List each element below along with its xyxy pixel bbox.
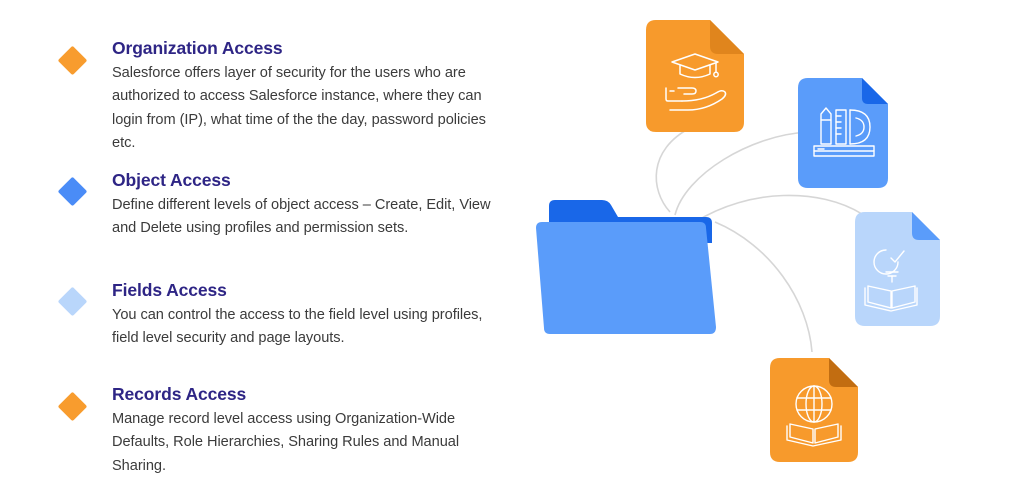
document-card-body [646, 20, 744, 132]
document-card-graduation [646, 20, 744, 132]
folder-icon [536, 200, 716, 334]
diamond-bullet-icon [58, 392, 88, 422]
feature-description: You can control the access to the field … [112, 304, 502, 351]
feature-text-group: Organization Access Salesforce offers la… [112, 38, 502, 155]
document-card-fold [912, 212, 940, 240]
feature-description: Salesforce offers layer of security for … [112, 62, 502, 155]
connector-curve [715, 222, 812, 352]
document-card-globe [770, 358, 858, 462]
feature-title: Fields Access [112, 280, 502, 300]
diamond-bullet-icon [58, 46, 88, 76]
document-card-idea [855, 212, 940, 326]
feature-text-group: Object Access Define different levels of… [112, 170, 502, 241]
document-card-fold [862, 78, 888, 104]
connector-curve [695, 195, 862, 222]
diamond-bullet-icon [58, 287, 88, 317]
feature-title: Organization Access [112, 38, 502, 58]
diamond-bullet-icon [58, 177, 88, 207]
access-levels-illustration [520, 0, 1024, 492]
feature-text-group: Records Access Manage record level acces… [112, 384, 502, 478]
connector-curve [656, 128, 690, 212]
folder-front [536, 222, 716, 334]
feature-description: Define different levels of object access… [112, 194, 502, 241]
document-card-tools [798, 78, 888, 188]
feature-title: Object Access [112, 170, 502, 190]
feature-description: Manage record level access using Organiz… [112, 408, 502, 478]
feature-title: Records Access [112, 384, 502, 404]
feature-text-group: Fields Access You can control the access… [112, 280, 502, 351]
connector-curve [675, 132, 808, 215]
slide-canvas: Organization Access Salesforce offers la… [0, 0, 1024, 492]
feature-list: Organization Access Salesforce offers la… [0, 0, 520, 492]
document-card-fold [710, 20, 744, 54]
document-card-fold [829, 358, 858, 387]
